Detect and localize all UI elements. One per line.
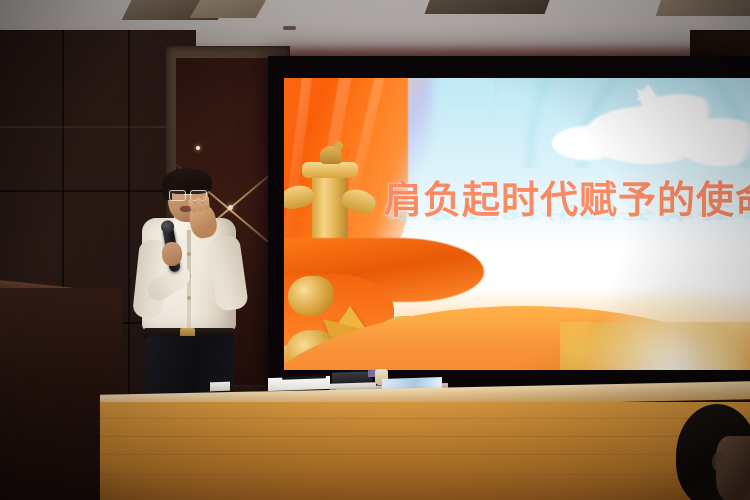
wood-grain — [100, 436, 750, 437]
shirt-button — [187, 296, 191, 300]
wood-grain — [100, 418, 750, 419]
ceiling-fixture — [283, 26, 296, 30]
podium-front — [100, 402, 750, 500]
glasses-lens-left — [169, 190, 186, 201]
slide-title: 肩负起时代赋予的使命 — [384, 182, 734, 221]
speaker-figure — [128, 168, 246, 400]
audience-member-ear — [712, 452, 726, 472]
finger — [203, 196, 210, 210]
light-burst — [584, 280, 750, 370]
projection-screen: 肩负起时代赋予的使命 肩负起时代赋予的使命 — [284, 78, 750, 370]
desk-item-small-box — [210, 382, 230, 392]
ceiling-coffer — [425, 0, 556, 14]
lion-statue-icon — [320, 146, 342, 164]
shirt-button — [187, 252, 191, 256]
wood-grain — [100, 474, 750, 475]
shirt-sleeve-right — [207, 234, 249, 312]
speaker-mic-hand — [162, 242, 182, 266]
ceiling-coffer — [190, 0, 269, 18]
glasses-icon — [169, 190, 207, 199]
presentation-photo-scene: 肩负起时代赋予的使命 肩负起时代赋予的使命 — [0, 0, 750, 500]
huabiao-cap — [302, 162, 358, 178]
trim-glint — [196, 146, 200, 150]
wood-grain — [100, 454, 750, 455]
ceiling-coffer — [656, 0, 750, 16]
